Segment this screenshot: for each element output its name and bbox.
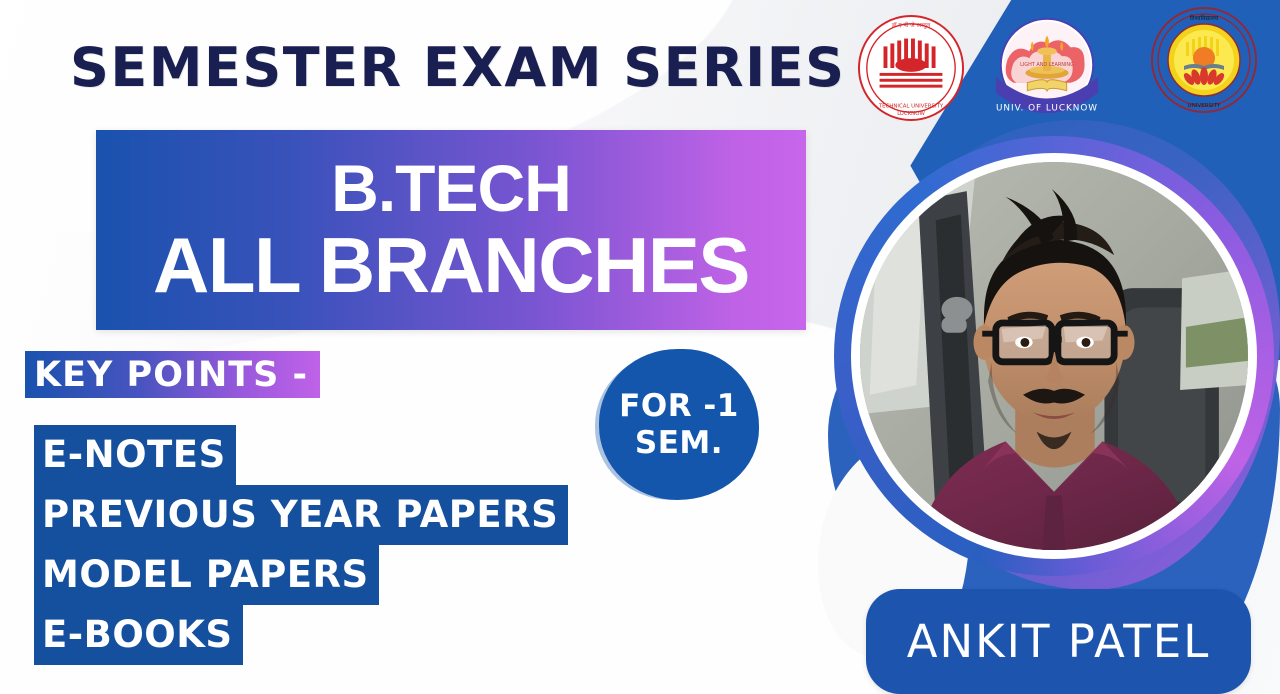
profile-photo-ring-inner xyxy=(851,153,1257,559)
presenter-name: ANKIT PATEL xyxy=(907,615,1211,668)
banner-branches-label: ALL BRANCHES xyxy=(153,226,749,306)
profile-photo-ring xyxy=(834,136,1274,576)
svg-text:डॉ ए पी जे अब्दुल: डॉ ए पी जे अब्दुल xyxy=(891,21,931,29)
semester-badge-line1: FOR -1 xyxy=(619,388,739,425)
list-item: E-BOOKS xyxy=(34,605,568,665)
banner-degree-label: B.TECH xyxy=(331,155,571,222)
semester-badge-line2: SEM. xyxy=(635,425,723,462)
key-point-model-papers: MODEL PAPERS xyxy=(34,545,379,605)
svg-text:UNIV. OF LUCKNOW: UNIV. OF LUCKNOW xyxy=(996,103,1098,113)
key-points-heading: KEY POINTS - xyxy=(25,351,320,398)
svg-text:विश्वविद्यालय: विश्वविद्यालय xyxy=(1190,14,1219,22)
svg-text:UNIVERSITY: UNIVERSITY xyxy=(1188,103,1221,109)
list-item: E-NOTES xyxy=(34,425,568,485)
svg-text:LUCKNOW: LUCKNOW xyxy=(897,111,925,117)
university-of-lucknow-seal-icon: UNIV. OF LUCKNOW LIGHT AND LEARNING xyxy=(988,8,1106,126)
svg-text:TECHNICAL UNIVERSITY: TECHNICAL UNIVERSITY xyxy=(878,103,944,109)
semester-badge: FOR -1 SEM. xyxy=(599,349,759,500)
list-item: MODEL PAPERS xyxy=(34,545,568,605)
key-point-e-books: E-BOOKS xyxy=(34,605,243,665)
presenter-nameplate: ANKIT PATEL xyxy=(866,589,1251,694)
page-title: SEMESTER EXAM SERIES xyxy=(70,36,845,99)
third-university-seal-icon: विश्वविद्यालय UNIVERSITY xyxy=(1148,4,1260,116)
poster-canvas: SEMESTER EXAM SERIES डॉ ए पी जे अब्दुल T… xyxy=(0,0,1280,694)
aktu-university-seal-icon: डॉ ए पी जे अब्दुल TECHNICAL UNIVERSITY L… xyxy=(857,14,965,122)
key-points-list: E-NOTES PREVIOUS YEAR PAPERS MODEL PAPER… xyxy=(34,425,568,665)
key-point-previous-year-papers: PREVIOUS YEAR PAPERS xyxy=(34,485,568,545)
svg-text:LIGHT AND LEARNING: LIGHT AND LEARNING xyxy=(1020,62,1074,68)
key-point-e-notes: E-NOTES xyxy=(34,425,236,485)
course-banner: B.TECH ALL BRANCHES xyxy=(96,130,806,330)
avatar xyxy=(860,162,1248,550)
list-item: PREVIOUS YEAR PAPERS xyxy=(34,485,568,545)
